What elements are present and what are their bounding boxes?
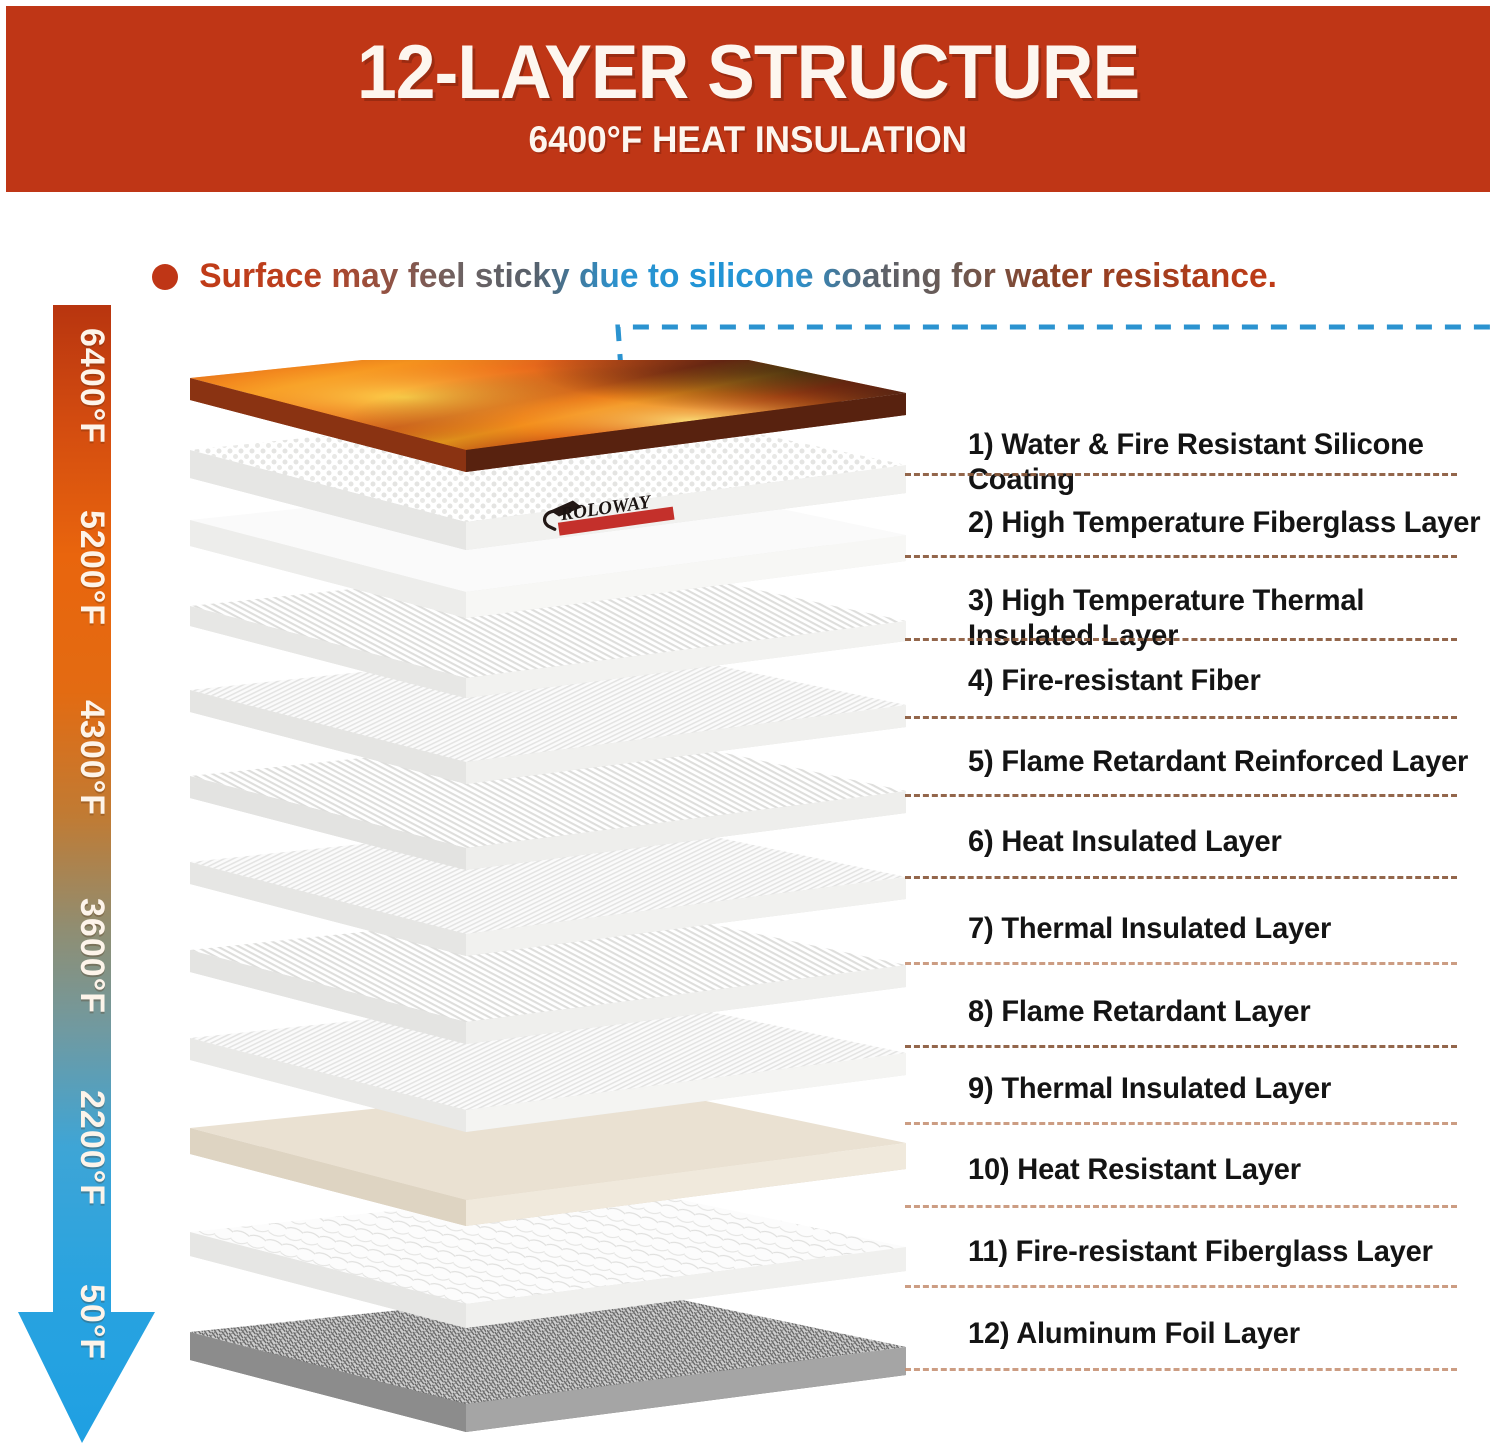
- layer-label-4: 4) Fire-resistant Fiber: [968, 664, 1261, 699]
- layer-text-5: Flame Retardant Reinforced Layer: [1001, 745, 1468, 778]
- layer-label-6: 6) Heat Insulated Layer: [968, 825, 1282, 860]
- layer-number-9: 9): [968, 1072, 1001, 1105]
- layer-label-12: 12) Aluminum Foil Layer: [968, 1317, 1300, 1352]
- layer-text-6: Heat Insulated Layer: [1001, 825, 1281, 858]
- layer-separator-3: [905, 638, 1457, 641]
- layer-separator-10: [905, 1205, 1457, 1208]
- layer-number-7: 7): [968, 912, 1001, 945]
- layer-separator-11: [905, 1285, 1457, 1288]
- page-title: 12-LAYER STRUCTURE: [357, 37, 1139, 109]
- layer-label-7: 7) Thermal Insulated Layer: [968, 912, 1331, 947]
- layer-separator-8: [905, 1045, 1457, 1048]
- layer-label-8: 8) Flame Retardant Layer: [968, 995, 1310, 1030]
- layer-text-12: Aluminum Foil Layer: [1016, 1317, 1300, 1350]
- layer-text-2: High Temperature Fiberglass Layer: [1001, 506, 1480, 539]
- layer-separator-4: [905, 716, 1457, 719]
- layer-number-10: 10): [968, 1153, 1017, 1186]
- layer-text-3: High Temperature Thermal Insulated Layer: [968, 584, 1364, 652]
- layer-number-3: 3): [968, 584, 1001, 617]
- callout-text: Surface may feel sticky due to silicone …: [199, 257, 1277, 296]
- layer-separator-5: [905, 794, 1457, 797]
- layer-separator-2: [905, 555, 1457, 558]
- layer-number-1: 1): [968, 428, 1001, 461]
- layer-number-8: 8): [968, 995, 1001, 1028]
- layer-text-10: Heat Resistant Layer: [1017, 1153, 1301, 1186]
- layer-number-11: 11): [968, 1235, 1016, 1268]
- layer-separator-9: [905, 1122, 1457, 1125]
- layer-label-5: 5) Flame Retardant Reinforced Layer: [968, 745, 1468, 780]
- layer-number-4: 4): [968, 664, 1001, 697]
- callout-note: Surface may feel sticky due to silicone …: [152, 252, 1482, 300]
- layer-separator-6: [905, 876, 1457, 879]
- header-banner: 12-LAYER STRUCTURE 6400°F HEAT INSULATIO…: [6, 6, 1490, 192]
- layer-text-8: Flame Retardant Layer: [1001, 995, 1310, 1028]
- layer-number-2: 2): [968, 506, 1001, 539]
- layer-label-3: 3) High Temperature Thermal Insulated La…: [968, 584, 1492, 653]
- layer-label-1: 1) Water & Fire Resistant Silicone Coati…: [968, 428, 1492, 497]
- layer-text-1: Water & Fire Resistant Silicone Coating: [968, 428, 1424, 496]
- layer-text-9: Thermal Insulated Layer: [1001, 1072, 1331, 1105]
- layer-label-10: 10) Heat Resistant Layer: [968, 1153, 1301, 1188]
- layer-label-column: 1) Water & Fire Resistant Silicone Coati…: [905, 400, 1500, 1430]
- temperature-scale-arrow: [14, 300, 164, 1448]
- layer-label-9: 9) Thermal Insulated Layer: [968, 1072, 1331, 1107]
- layer-number-5: 5): [968, 745, 1001, 778]
- layer-separator-1: [905, 473, 1457, 476]
- layer-text-7: Thermal Insulated Layer: [1001, 912, 1331, 945]
- bullet-icon: [152, 264, 178, 290]
- layer-separator-7: [905, 962, 1457, 965]
- layer-number-6: 6): [968, 825, 1001, 858]
- layer-text-4: Fire-resistant Fiber: [1001, 664, 1260, 697]
- page-subtitle: 6400°F HEAT INSULATION: [529, 119, 968, 161]
- layer-stack-illustration: ROLOWAY: [150, 360, 940, 1450]
- layer-text-11: Fire-resistant Fiberglass Layer: [1016, 1235, 1433, 1268]
- layer-number-12: 12): [968, 1317, 1016, 1350]
- layer-separator-12: [905, 1368, 1457, 1371]
- layer-label-11: 11) Fire-resistant Fiberglass Layer: [968, 1235, 1433, 1270]
- layer-label-2: 2) High Temperature Fiberglass Layer: [968, 506, 1480, 541]
